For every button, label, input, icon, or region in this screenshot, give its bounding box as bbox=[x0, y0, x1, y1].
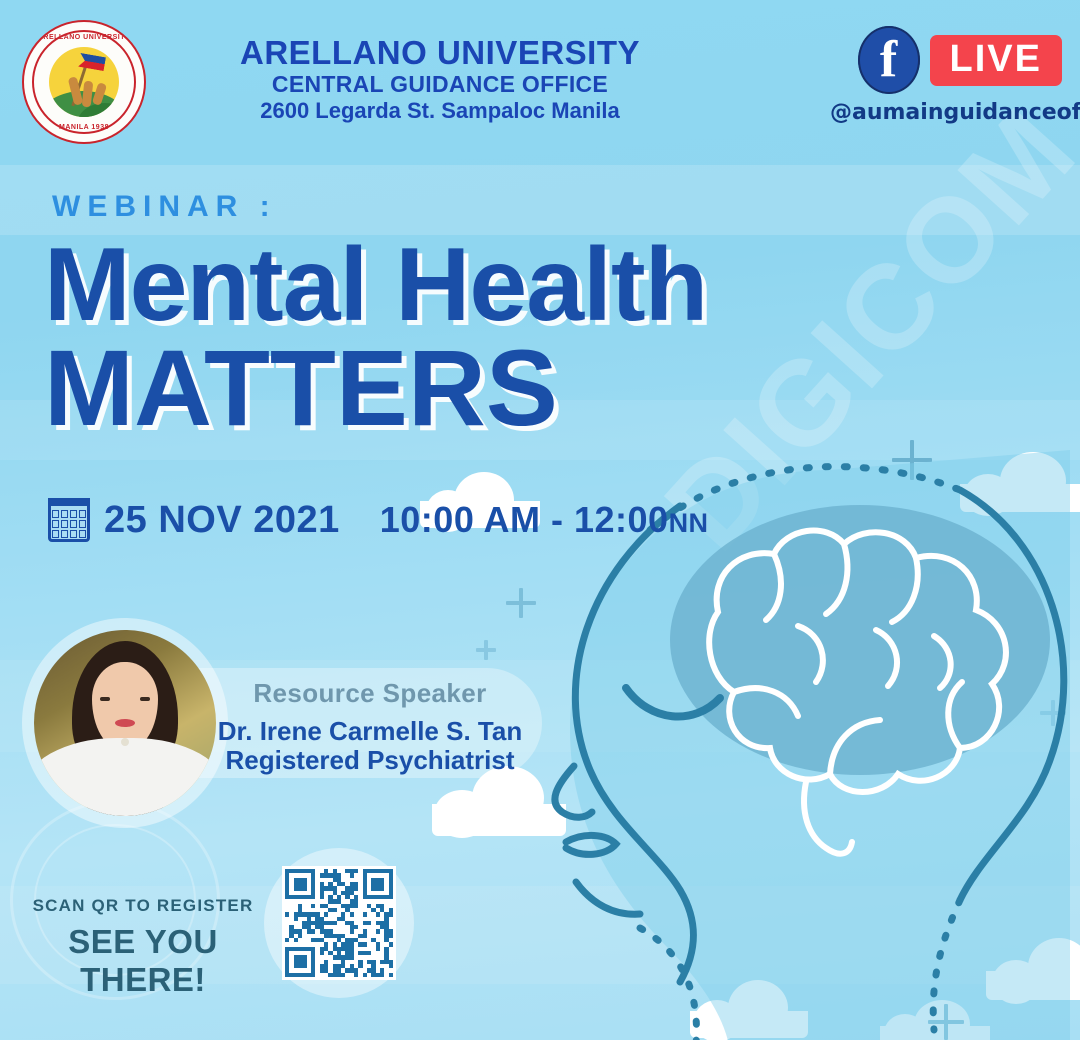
facebook-handle[interactable]: @aumainguidanceoffice bbox=[830, 100, 1062, 125]
speaker-name: Dr. Irene Carmelle S. Tan bbox=[200, 717, 540, 746]
title-line-1: Mental Health bbox=[44, 238, 707, 334]
qr-label: SCAN QR TO REGISTER bbox=[28, 896, 258, 916]
organization-block: ARELLANO UNIVERSITY CENTRAL GUIDANCE OFF… bbox=[160, 36, 720, 122]
speaker-text-block: Resource Speaker Dr. Irene Carmelle S. T… bbox=[200, 678, 540, 775]
speaker-photo-ring bbox=[22, 618, 228, 828]
registration-qr-code[interactable] bbox=[282, 866, 396, 980]
speaker-credential: Registered Psychiatrist bbox=[200, 746, 540, 775]
date-time-row: 25 NOV 2021 10:00 AM - 12:00NN bbox=[48, 498, 709, 542]
closing-message: SEE YOU THERE! bbox=[28, 923, 258, 999]
calendar-icon bbox=[48, 498, 90, 542]
seal-arc-top: ARELLANO UNIVERSITY bbox=[24, 34, 144, 41]
poster-header: ARELLANO UNIVERSITY MANILA 1938 ARELLANO… bbox=[0, 0, 1080, 160]
speaker-role-label: Resource Speaker bbox=[200, 678, 540, 709]
poster-title: Mental Health MATTERS bbox=[44, 238, 707, 437]
footer-text-block: SCAN QR TO REGISTER SEE YOU THERE! bbox=[28, 896, 258, 999]
facebook-icon[interactable]: f bbox=[858, 26, 920, 94]
facebook-live-block[interactable]: f LIVE @aumainguidanceoffice bbox=[830, 26, 1062, 125]
event-time-range: 10:00 AM - 12:00 bbox=[380, 499, 669, 540]
title-line-2: MATTERS bbox=[44, 338, 707, 437]
live-badge: LIVE bbox=[930, 35, 1062, 86]
seal-arc-bottom: MANILA 1938 bbox=[24, 124, 144, 131]
university-seal-logo: ARELLANO UNIVERSITY MANILA 1938 bbox=[22, 20, 146, 144]
facebook-f-glyph: f bbox=[880, 34, 897, 86]
webinar-poster: DIGICOM bbox=[0, 0, 1080, 1040]
plus-mark-icon bbox=[476, 640, 496, 660]
organization-department: CENTRAL GUIDANCE OFFICE bbox=[160, 72, 720, 96]
event-time: 10:00 AM - 12:00NN bbox=[380, 499, 709, 541]
organization-address: 2600 Legarda St. Sampaloc Manila bbox=[160, 99, 720, 122]
event-date: 25 NOV 2021 bbox=[104, 499, 340, 542]
event-time-suffix: NN bbox=[669, 508, 709, 538]
webinar-kicker: WEBINAR : bbox=[52, 190, 277, 224]
organization-name: ARELLANO UNIVERSITY bbox=[160, 36, 720, 70]
avatar bbox=[34, 630, 216, 816]
